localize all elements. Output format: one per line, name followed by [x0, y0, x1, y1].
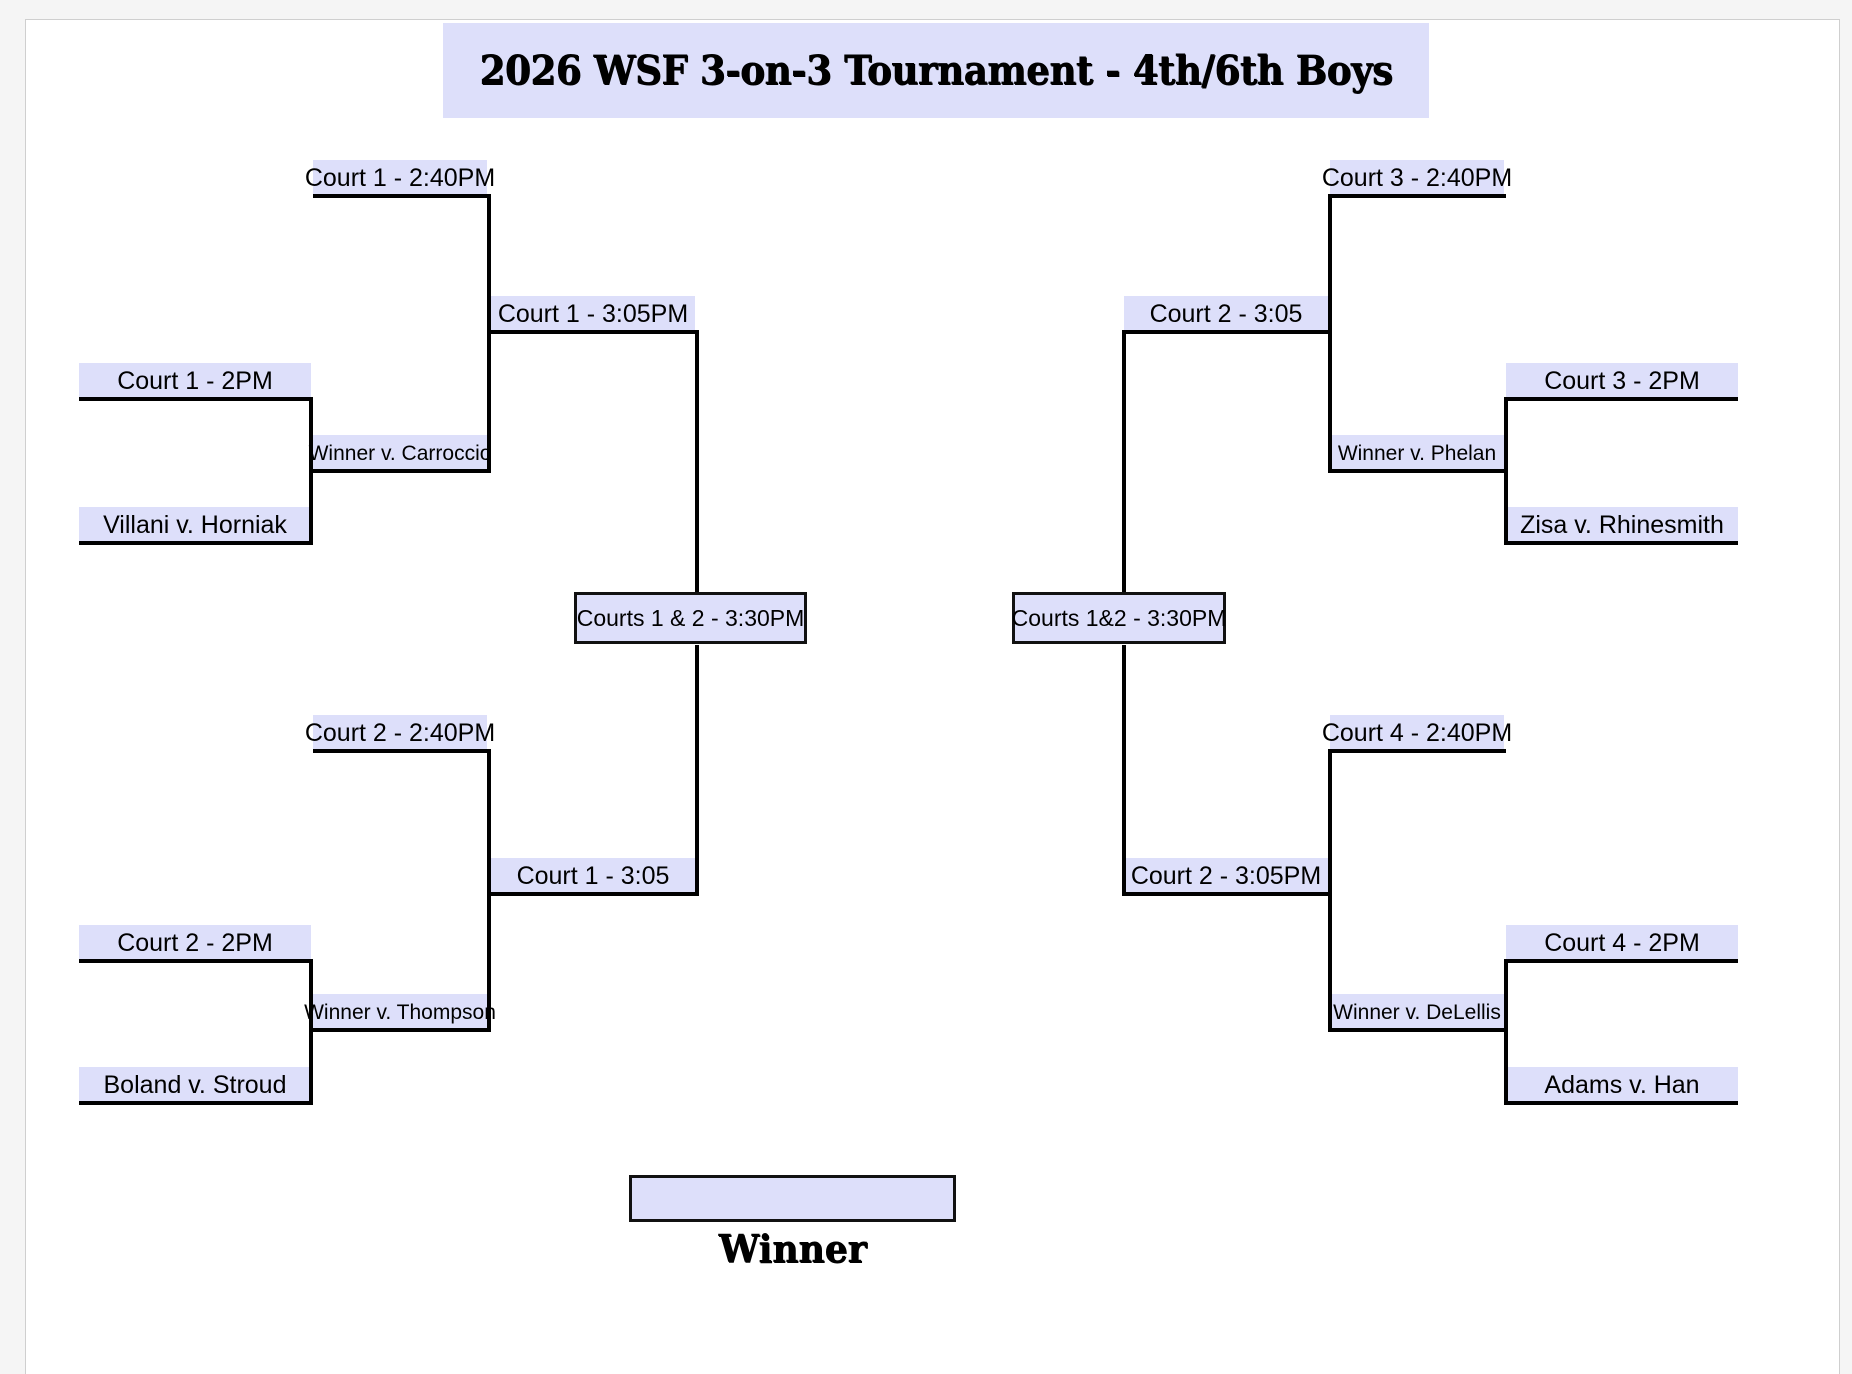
bracket-title-banner: 2026 WSF 3-on-3 Tournament - 4th/6th Boy…	[443, 23, 1429, 118]
right-final-upper-spine	[1122, 330, 1126, 596]
right-bottom-round1-connector	[1504, 959, 1508, 1105]
champion-slot[interactable]	[629, 1175, 956, 1222]
tournament-bracket: 2026 WSF 3-on-3 Tournament - 4th/6th Boy…	[26, 20, 1841, 1361]
right-top-round2-time-label[interactable]: Court 3 - 2:40PM	[1330, 160, 1504, 196]
left-top-round1-time-label[interactable]: Court 1 - 2PM	[79, 363, 311, 399]
left-final-box[interactable]: Courts 1 & 2 - 3:30PM	[574, 592, 807, 644]
right-bottom-round1-time-label[interactable]: Court 4 - 2PM	[1506, 925, 1738, 961]
left-final-lower-spine	[695, 645, 699, 896]
left-bottom-round1-lower-rule	[79, 1101, 313, 1105]
right-bottom-round2-connector	[1328, 749, 1332, 1032]
right-bottom-round1-matchup-label[interactable]: Adams v. Han	[1506, 1067, 1738, 1103]
right-top-round1-lower-rule	[1504, 541, 1738, 545]
left-bottom-round1-time-label[interactable]: Court 2 - 2PM	[79, 925, 311, 961]
right-bottom-semifinal-rule	[1122, 892, 1330, 896]
right-top-semifinal-rule	[1122, 330, 1330, 334]
right-top-round1-upper-rule	[1504, 397, 1738, 401]
right-bottom-round2-lower-rule	[1328, 1028, 1506, 1032]
right-top-round2-lower-rule	[1328, 469, 1506, 473]
left-bottom-round1-matchup-label[interactable]: Boland v. Stroud	[79, 1067, 311, 1103]
left-bottom-round1-upper-rule	[79, 959, 313, 963]
left-bottom-round2-upper-rule	[313, 749, 491, 753]
left-top-round1-lower-rule	[79, 541, 313, 545]
left-top-round2-upper-rule	[313, 194, 491, 198]
right-top-round1-matchup-label[interactable]: Zisa v. Rhinesmith	[1506, 507, 1738, 543]
right-top-round2-matchup-label[interactable]: Winner v. Phelan	[1330, 435, 1504, 471]
left-top-round2-lower-rule	[313, 469, 491, 473]
right-bottom-round1-lower-rule	[1504, 1101, 1738, 1105]
right-final-box[interactable]: Courts 1&2 - 3:30PM	[1012, 592, 1226, 644]
right-bottom-semifinal-label[interactable]: Court 2 - 3:05PM	[1124, 858, 1328, 894]
right-bottom-round2-time-label[interactable]: Court 4 - 2:40PM	[1330, 715, 1504, 751]
right-top-round1-time-label[interactable]: Court 3 - 2PM	[1506, 363, 1738, 399]
right-top-semifinal-label[interactable]: Court 2 - 3:05	[1124, 296, 1328, 332]
left-bottom-round1-connector	[309, 959, 313, 1105]
document-panel: 2026 WSF 3-on-3 Tournament - 4th/6th Boy…	[25, 19, 1840, 1374]
left-bottom-semifinal-label[interactable]: Court 1 - 3:05	[491, 858, 695, 894]
right-bottom-round2-matchup-label[interactable]: Winner v. DeLellis	[1330, 994, 1504, 1030]
right-final-lower-spine	[1122, 645, 1126, 896]
left-top-semifinal-rule	[491, 330, 699, 334]
left-final-label: Courts 1 & 2 - 3:30PM	[577, 605, 805, 632]
right-final-label: Courts 1&2 - 3:30PM	[1012, 605, 1227, 632]
left-bottom-semifinal-rule	[491, 892, 699, 896]
right-bottom-round2-upper-rule	[1328, 749, 1506, 753]
left-bottom-round2-time-label[interactable]: Court 2 - 2:40PM	[313, 715, 487, 751]
right-top-round2-upper-rule	[1328, 194, 1506, 198]
left-top-round2-matchup-label[interactable]: Winner v. Carroccio	[313, 435, 487, 471]
left-top-semifinal-label[interactable]: Court 1 - 3:05PM	[491, 296, 695, 332]
left-top-round2-time-label[interactable]: Court 1 - 2:40PM	[313, 160, 487, 196]
left-top-round1-matchup-label[interactable]: Villani v. Horniak	[79, 507, 311, 543]
champion-caption: Winner	[637, 1226, 948, 1271]
left-top-round1-upper-rule	[79, 397, 313, 401]
left-final-upper-spine	[695, 330, 699, 596]
right-bottom-round1-upper-rule	[1504, 959, 1738, 963]
left-bottom-round2-lower-rule	[313, 1028, 491, 1032]
left-bottom-round2-matchup-label[interactable]: Winner v. Thompson	[313, 994, 487, 1030]
page-title: 2026 WSF 3-on-3 Tournament - 4th/6th Boy…	[479, 47, 1392, 94]
